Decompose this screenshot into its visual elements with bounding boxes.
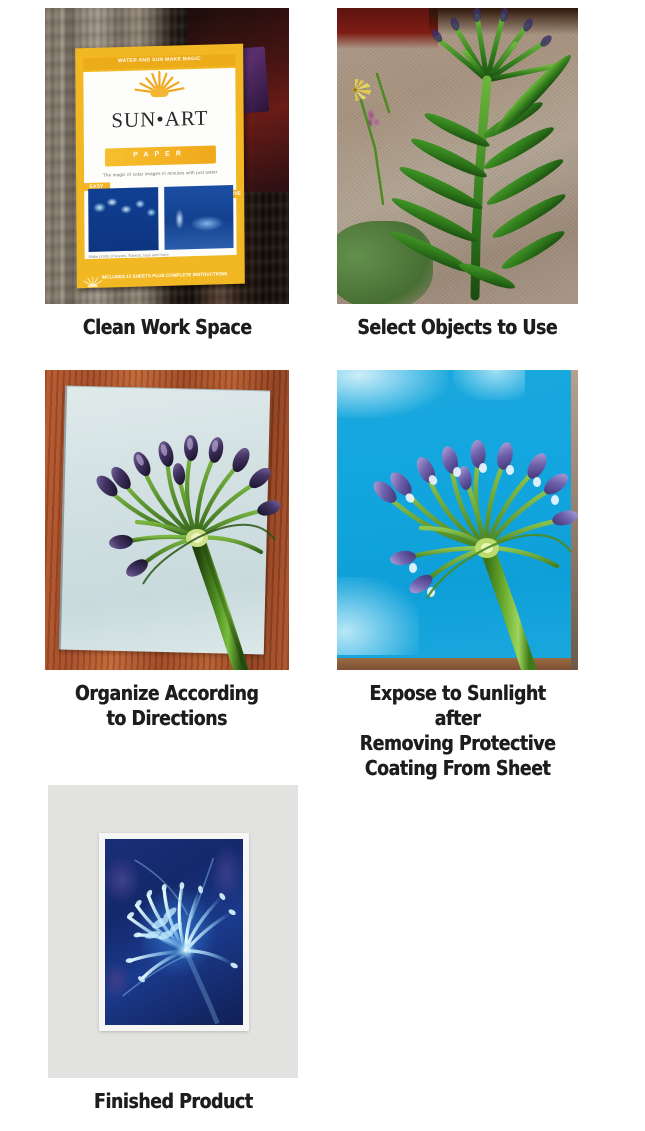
package-sample-caption: Make prints of leaves, flowers, lace and… [88,252,181,260]
package-sample-print-right [163,186,232,250]
step-item-4: Expose to Sunlight after Removing Protec… [337,370,578,781]
step-caption-1: Clean Work Space [83,315,252,340]
package-bottom-text: INCLUDES 12 SHEETS PLUS COMPLETE INSTRUC… [91,271,236,283]
cyanotype-print [105,839,243,1025]
sun-art-paper-box: WATER AND SUN MAKE MAGIC [75,44,245,288]
step-caption-3: Organize According to Directions [75,681,258,731]
leaves-and-buds-illustration [337,8,578,304]
step-photo-grid: WATER AND SUN MAKE MAGIC [0,0,645,1131]
expose-to-sunlight-photo [337,370,578,670]
sunburst-icon [131,62,187,98]
organize-on-sheet-photo [45,370,289,670]
paper-word-bar: PAPER [104,146,215,167]
finished-product-photo [48,785,298,1078]
agapanthus-flower-illustration [45,370,289,670]
step-caption-5: Finished Product [94,1089,253,1114]
selected-objects-photo [337,8,578,304]
sun-art-paper-package-photo: WATER AND SUN MAKE MAGIC [45,8,289,304]
package-sample-print-left [87,188,158,252]
step-item-2: Select Objects to Use [337,8,578,340]
step-item-5: Finished Product [48,785,298,1114]
step-caption-4: Expose to Sunlight after Removing Protec… [354,681,561,781]
step-item-3: Organize According to Directions [45,370,289,731]
cyanotype-flower-silhouette [105,839,243,1025]
print-white-border [99,833,249,1031]
step-caption-2: Select Objects to Use [358,315,558,340]
step-item-1: WATER AND SUN MAKE MAGIC [45,8,289,340]
agapanthus-on-cyan-illustration [337,370,578,670]
